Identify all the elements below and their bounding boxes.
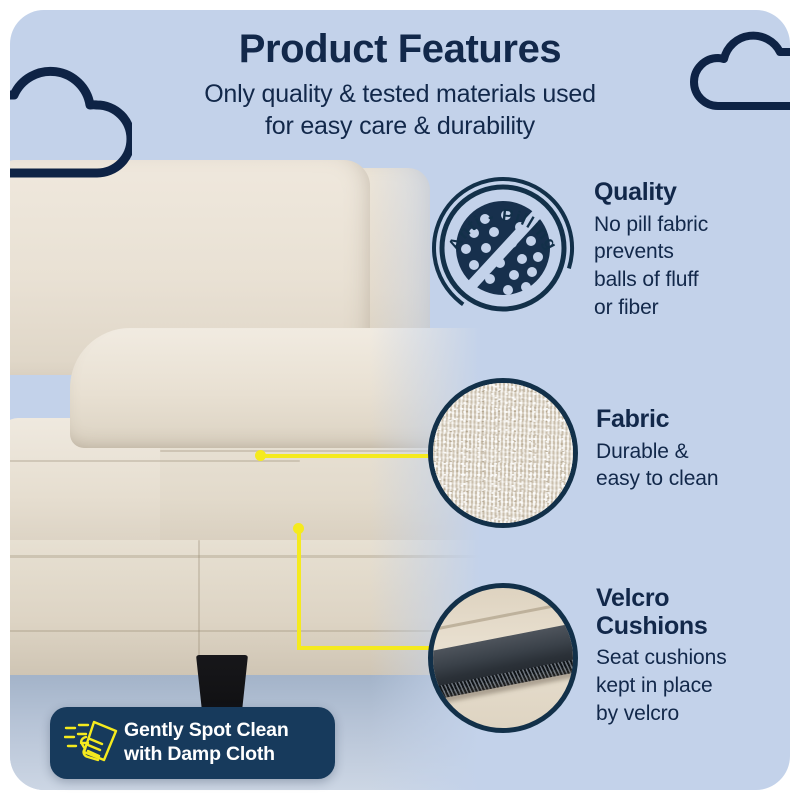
product-feature-card: Product Features Only quality & tested m… (10, 10, 790, 790)
desc-line: Durable & (596, 438, 718, 466)
fabric-closeup-circle (428, 378, 578, 528)
desc-line: No pill fabric (594, 211, 708, 239)
infographic-canvas: Product Features Only quality & tested m… (0, 0, 800, 800)
pointer-segment (260, 454, 438, 458)
sofa-product-photo (10, 160, 490, 790)
base-vertical-seam (198, 540, 200, 658)
desc-line: Seat cushions (596, 644, 727, 672)
feature-fabric[interactable]: Fabric Durable & easy to clean (428, 378, 718, 528)
page-title: Product Features (10, 28, 790, 70)
feature-fabric-text: Fabric Durable & easy to clean (596, 406, 718, 493)
feature-fabric-title: Fabric (596, 406, 718, 434)
anti-pilling-badge-icon: Anti - Pilling (430, 175, 576, 321)
velcro-closeup-circle (428, 583, 578, 733)
desc-line: kept in place (596, 672, 727, 700)
care-instruction-text: Gently Spot Clean with Damp Cloth (124, 719, 289, 767)
desc-line: balls of fluff (594, 266, 708, 294)
page-subtitle: Only quality & tested materials used for… (10, 78, 790, 142)
header-block: Product Features Only quality & tested m… (10, 28, 790, 142)
feature-quality-title: Quality (594, 179, 708, 207)
title-line: Cushions (596, 613, 727, 641)
subtitle-line-1: Only quality & tested materials used (10, 78, 790, 110)
feature-quality-description: No pill fabric prevents balls of fluff o… (594, 211, 708, 323)
feature-velcro-title: Velcro Cushions (596, 585, 727, 640)
care-line-2: with Damp Cloth (124, 743, 289, 767)
desc-line: easy to clean (596, 465, 718, 493)
care-instruction-badge[interactable]: Gently Spot Clean with Damp Cloth (50, 707, 335, 779)
fabric-texture (433, 383, 573, 523)
cushion-seam (10, 460, 300, 462)
feature-quality[interactable]: Anti - Pilling Quality No pill fabric pr… (430, 175, 708, 322)
feature-quality-text: Quality No pill fabric prevents balls of… (594, 179, 708, 322)
pointer-segment-vertical (297, 528, 301, 650)
desc-line: by velcro (596, 700, 727, 728)
hand-wiping-cloth-icon (64, 715, 120, 772)
subtitle-line-2: for easy care & durability (10, 110, 790, 142)
feature-fabric-description: Durable & easy to clean (596, 438, 718, 494)
feature-velcro[interactable]: Velcro Cushions Seat cushions kept in pl… (428, 583, 727, 733)
desc-line: or fiber (594, 294, 708, 322)
feature-velcro-text: Velcro Cushions Seat cushions kept in pl… (596, 585, 727, 728)
title-line: Velcro (596, 585, 727, 613)
feature-velcro-description: Seat cushions kept in place by velcro (596, 644, 727, 728)
care-line-1: Gently Spot Clean (124, 719, 289, 743)
desc-line: prevents (594, 238, 708, 266)
pointer-segment-horizontal (297, 646, 437, 650)
